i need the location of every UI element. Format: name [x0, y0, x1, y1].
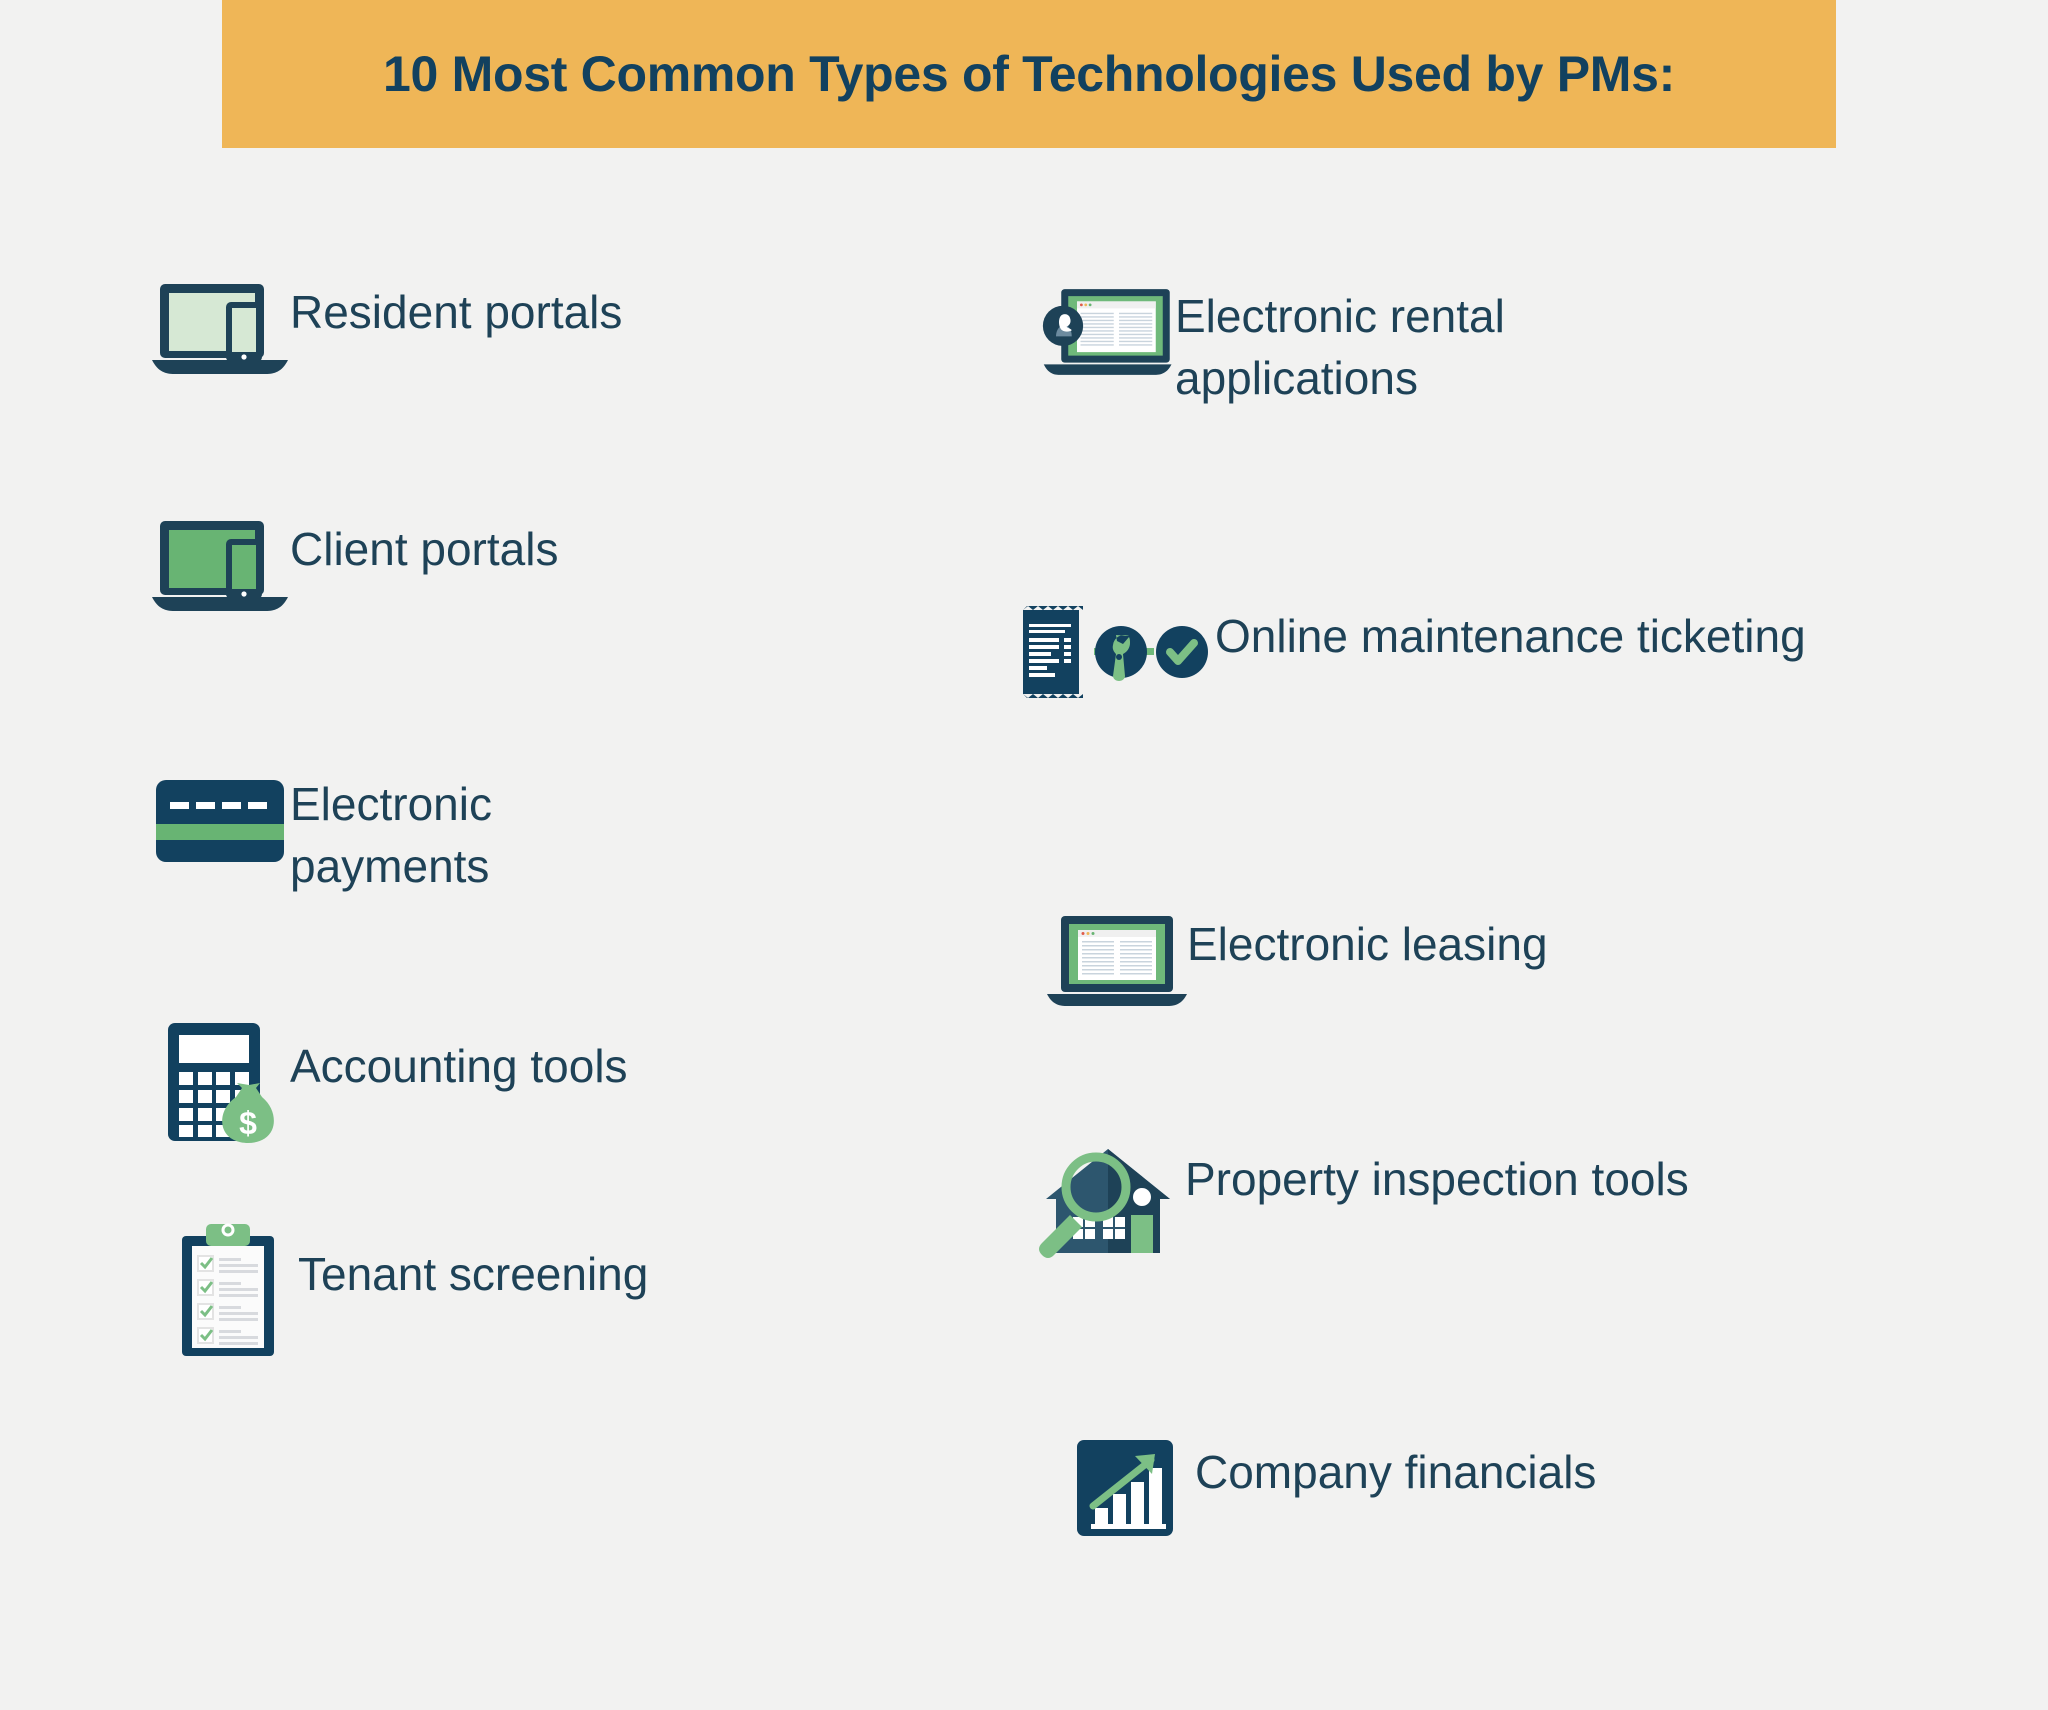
list-item-label: Company financials — [1195, 1428, 1596, 1504]
list-item[interactable]: Tenant screening — [158, 1230, 648, 1350]
list-item[interactable]: Company financials — [1055, 1428, 1596, 1548]
ticket-wrench-check-icon — [1015, 592, 1215, 712]
list-item-label: Property inspection tools — [1185, 1135, 1689, 1211]
credit-card-icon — [150, 760, 290, 880]
bar-chart-arrow-icon — [1055, 1428, 1195, 1548]
list-item[interactable]: Online maintenance ticketing — [1015, 592, 1806, 712]
laptop-document-icon — [1047, 900, 1187, 1020]
laptop-document-signature-icon — [1035, 272, 1175, 392]
house-magnifier-icon — [1025, 1135, 1185, 1255]
list-item[interactable]: $ Accounting tools — [150, 1022, 628, 1142]
list-item-label: Accounting tools — [290, 1022, 628, 1098]
list-item[interactable]: Electronic leasing — [1047, 900, 1548, 1020]
list-item-label: Electronic leasing — [1187, 900, 1548, 976]
list-item-label: Online maintenance ticketing — [1215, 592, 1806, 668]
svg-text:$: $ — [239, 1105, 257, 1141]
list-item-label: Electronic rental applications — [1175, 272, 1675, 409]
page-title: 10 Most Common Types of Technologies Use… — [383, 45, 1675, 103]
list-item-label: Tenant screening — [298, 1230, 648, 1306]
list-item-label: Client portals — [290, 505, 558, 581]
clipboard-checklist-icon — [158, 1230, 298, 1350]
list-item[interactable]: Client portals — [150, 505, 558, 625]
list-item[interactable]: Resident portals — [150, 268, 622, 388]
list-item[interactable]: Property inspection tools — [1025, 1135, 1689, 1255]
title-banner: 10 Most Common Types of Technologies Use… — [222, 0, 1836, 148]
list-item[interactable]: Electronic payments — [150, 760, 620, 897]
list-item-label: Electronic payments — [290, 760, 620, 897]
list-item[interactable]: Electronic rental applications — [1035, 272, 1675, 409]
list-item-label: Resident portals — [290, 268, 622, 344]
laptop-tablet-light-icon — [150, 268, 290, 388]
laptop-tablet-green-icon — [150, 505, 290, 625]
calculator-money-bag-icon: $ — [150, 1022, 290, 1142]
